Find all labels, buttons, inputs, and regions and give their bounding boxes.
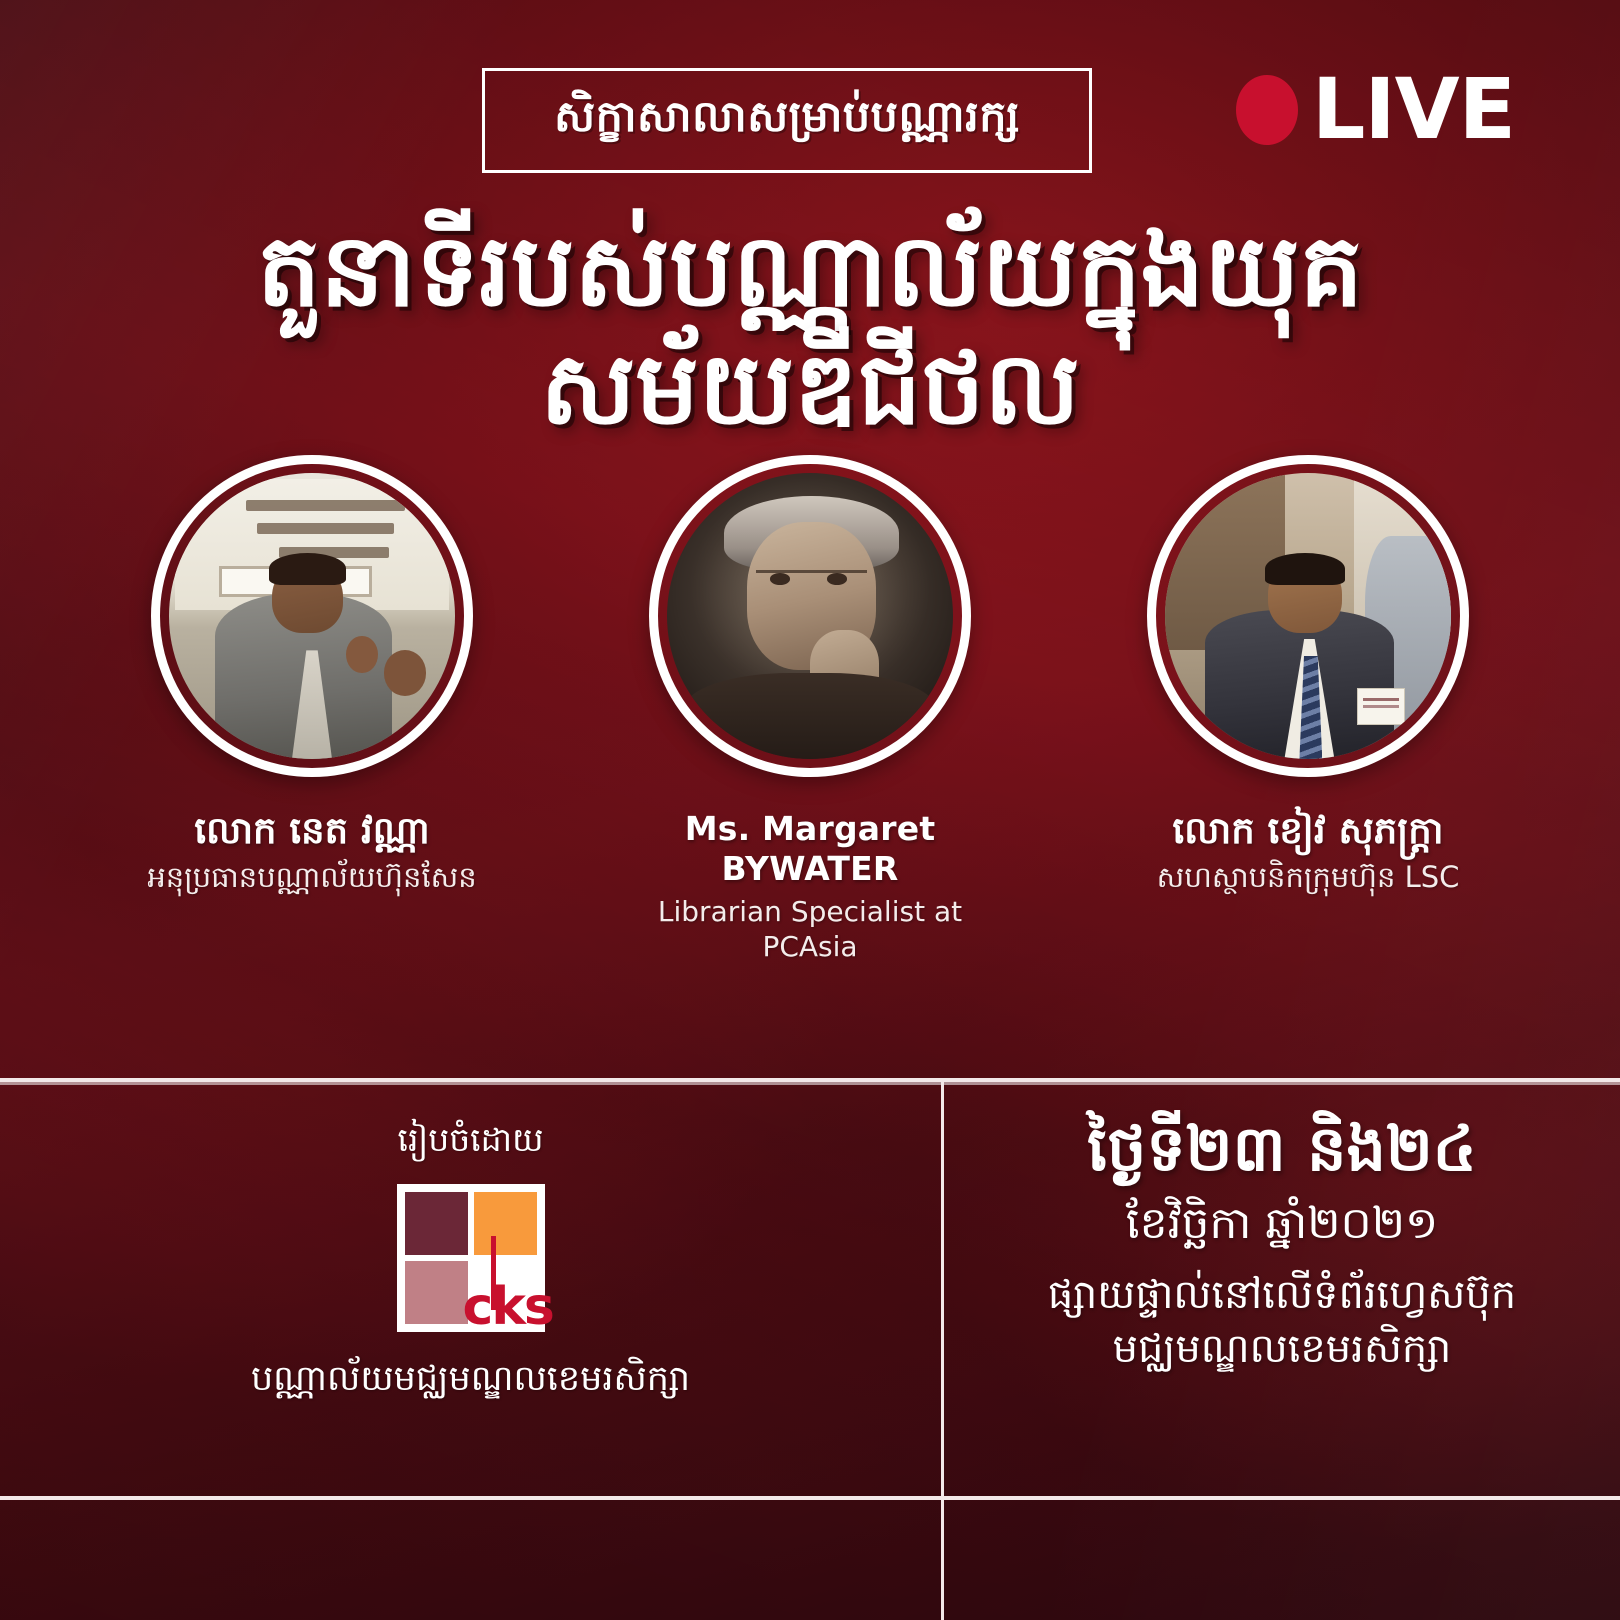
speaker-card: លោក នេត វណ្ណា អនុប្រធានបណ្ណាល័យហ៊ុនសែន <box>122 455 502 964</box>
divider-horizontal-bottom <box>0 1496 1620 1500</box>
speakers-list: លោក នេត វណ្ណា អនុប្រធានបណ្ណាល័យហ៊ុនសែន M… <box>0 455 1620 964</box>
broadcast-line-2: មជ្ឈមណ្ឌលខេមរសិក្សា <box>1113 1323 1452 1375</box>
organization-name: បណ្ណាល័យមជ្ឈមណ្ឌលខេមរសិក្សា <box>251 1358 690 1402</box>
speaker-photo-2 <box>667 473 953 759</box>
speaker-photo-3 <box>1165 473 1451 759</box>
broadcast-line-1: ផ្សាយផ្ទាល់នៅលើទំព័រហ្វេសប៊ុក <box>1048 1269 1516 1321</box>
poster-header: សិក្ខាសាលាសម្រាប់បណ្ណារក្ស LIVE <box>0 68 1620 178</box>
speaker-role: អនុប្រធានបណ្ណាល័យហ៊ុនសែន <box>122 859 502 895</box>
speaker-card: Ms. Margaret BYWATER Librarian Specialis… <box>620 455 1000 964</box>
speaker-card: លោក ខៀវ សុភក្ត្រា សហស្ថាបនិកក្រុមហ៊ុន LS… <box>1118 455 1498 964</box>
event-date-sub: ខែវិច្ឆិកា ឆ្នាំ២០២១ <box>1126 1196 1439 1251</box>
workshop-badge-label: សិក្ខាសាលាសម្រាប់បណ្ណារក្ស <box>554 96 1020 145</box>
event-details-section: ថ្ងៃទី២៣ និង២៤ ខែវិច្ឆិកា ឆ្នាំ២០២១ ផ្សា… <box>944 1082 1620 1496</box>
speaker-name: Ms. Margaret BYWATER <box>620 809 1000 888</box>
logo-quadrant-top-left <box>405 1192 468 1255</box>
organizer-section: រៀបចំដោយ cks បណ្ណាល័យមជ្ឈមណ្ឌលខេមរសិក្សា <box>0 1082 941 1496</box>
live-indicator: LIVE <box>1236 72 1515 148</box>
speaker-photo-1 <box>169 473 455 759</box>
speaker-name: លោក នេត វណ្ណា <box>122 809 502 853</box>
page-title: តួនាទីរបស់បណ្ណាល័យក្នុងយុគសម័យឌីជីថល <box>0 212 1620 448</box>
speaker-role: Librarian Specialist at PCAsia <box>620 894 1000 964</box>
cks-logo: cks <box>397 1184 545 1332</box>
live-dot-icon <box>1236 75 1298 145</box>
event-poster: សិក្ខាសាលាសម្រាប់បណ្ណារក្ស LIVE តួនាទីរប… <box>0 0 1620 1620</box>
live-label: LIVE <box>1312 72 1515 148</box>
logo-quadrant-top-right <box>474 1192 537 1255</box>
workshop-badge: សិក្ខាសាលាសម្រាប់បណ្ណារក្ស <box>482 68 1092 173</box>
avatar <box>151 455 473 777</box>
avatar <box>649 455 971 777</box>
logo-wordmark: cks <box>463 1285 539 1330</box>
speaker-name: លោក ខៀវ សុភក្ត្រា <box>1118 809 1498 853</box>
avatar <box>1147 455 1469 777</box>
logo-quadrant-bottom-left <box>405 1261 468 1324</box>
event-date-main: ថ្ងៃទី២៣ និង២៤ <box>1087 1112 1476 1186</box>
speaker-role: សហស្ថាបនិកក្រុមហ៊ុន LSC <box>1118 859 1498 895</box>
organized-by-label: រៀបចំដោយ <box>398 1120 544 1160</box>
